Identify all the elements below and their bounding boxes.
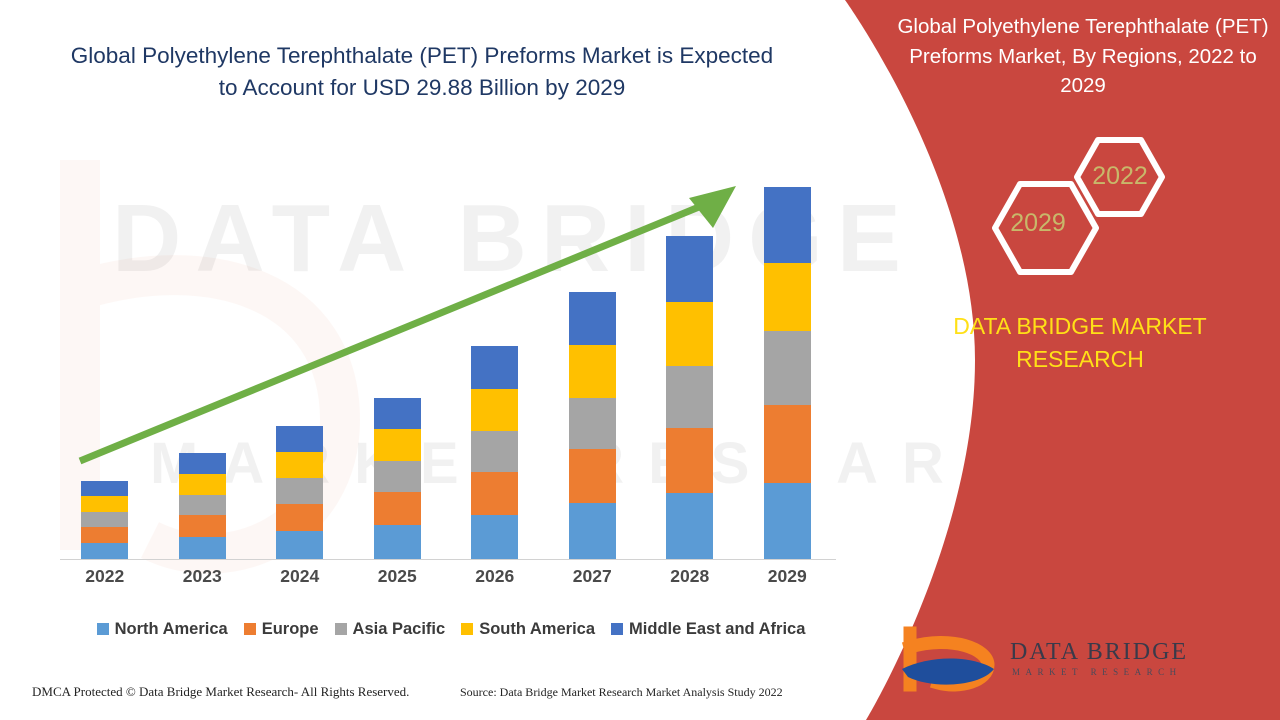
bar-segment[interactable] [666, 236, 713, 302]
legend-label: Asia Pacific [353, 620, 446, 639]
legend-swatch-icon [335, 623, 347, 635]
bar-segment[interactable] [374, 398, 421, 429]
bar-segment[interactable] [374, 429, 421, 461]
bar-segment[interactable] [569, 503, 616, 559]
x-tick-2026: 2026 [455, 566, 535, 587]
bar-segment[interactable] [81, 543, 128, 559]
bar-segment[interactable] [276, 426, 323, 452]
bar-segment[interactable] [179, 515, 226, 537]
footer-source: Source: Data Bridge Market Research Mark… [460, 685, 783, 700]
x-axis-tick-labels: 20222023202420252026202720282029 [56, 566, 836, 596]
bar-segment[interactable] [666, 366, 713, 428]
bar-2025[interactable] [374, 398, 421, 559]
bar-segment[interactable] [374, 492, 421, 525]
bar-segment[interactable] [81, 512, 128, 527]
bar-segment[interactable] [569, 345, 616, 398]
bar-segment[interactable] [179, 474, 226, 495]
bar-segment[interactable] [764, 187, 811, 263]
bar-segment[interactable] [179, 495, 226, 515]
bar-segment[interactable] [374, 525, 421, 559]
bar-2023[interactable] [179, 453, 226, 559]
logo-primary-text: DATA BRIDGE [1010, 639, 1188, 666]
bar-segment[interactable] [374, 461, 421, 492]
x-axis-line [60, 559, 836, 560]
hexagon-label-2029: 2029 [1002, 209, 1074, 238]
bar-segment[interactable] [276, 478, 323, 504]
chart-legend: North AmericaEuropeAsia PacificSouth Ame… [56, 615, 846, 643]
legend-swatch-icon [461, 623, 473, 635]
legend-item[interactable]: North America [97, 620, 228, 639]
x-tick-2024: 2024 [260, 566, 340, 587]
bar-segment[interactable] [471, 431, 518, 472]
bar-segment[interactable] [276, 531, 323, 559]
right-panel: Global Polyethylene Terephthalate (PET) … [880, 0, 1280, 720]
bar-segment[interactable] [471, 515, 518, 559]
bar-segment[interactable] [666, 302, 713, 366]
brand-name: DATA BRIDGE MARKET RESEARCH [890, 310, 1270, 375]
bar-segment[interactable] [666, 493, 713, 559]
x-tick-2025: 2025 [357, 566, 437, 587]
legend-swatch-icon [97, 623, 109, 635]
bar-segment[interactable] [81, 527, 128, 543]
bar-segment[interactable] [81, 496, 128, 512]
bar-segment[interactable] [764, 263, 811, 331]
bar-segment[interactable] [764, 405, 811, 483]
bar-2028[interactable] [666, 236, 713, 559]
x-tick-2027: 2027 [552, 566, 632, 587]
legend-item[interactable]: Europe [244, 620, 319, 639]
bar-2027[interactable] [569, 292, 616, 559]
legend-item[interactable]: Asia Pacific [335, 620, 446, 639]
legend-label: Europe [262, 620, 319, 639]
bar-2024[interactable] [276, 426, 323, 559]
bar-segment[interactable] [569, 398, 616, 449]
stacked-bar-chart [56, 120, 836, 560]
bar-segment[interactable] [471, 346, 518, 389]
legend-swatch-icon [244, 623, 256, 635]
data-bridge-logo: DATA BRIDGE MARKET RESEARCH [890, 625, 1120, 695]
bar-2022[interactable] [81, 481, 128, 559]
plot-area [56, 120, 836, 560]
infographic-canvas: DATA BRIDGE MARKET RESEARCH Global Polye… [0, 0, 1280, 720]
hexagon-group: 2029 2022 [980, 128, 1180, 278]
bar-segment[interactable] [569, 292, 616, 345]
legend-label: Middle East and Africa [629, 620, 805, 639]
legend-item[interactable]: Middle East and Africa [611, 620, 805, 639]
legend-swatch-icon [611, 623, 623, 635]
bar-segment[interactable] [764, 483, 811, 559]
bar-segment[interactable] [81, 481, 128, 496]
logo-secondary-text: MARKET RESEARCH [1012, 667, 1182, 677]
footer: DMCA Protected © Data Bridge Market Rese… [0, 684, 860, 706]
hexagon-label-2022: 2022 [1084, 162, 1156, 191]
panel-title: Global Polyethylene Terephthalate (PET) … [888, 12, 1278, 101]
footer-copyright: DMCA Protected © Data Bridge Market Rese… [32, 684, 409, 700]
bar-segment[interactable] [179, 537, 226, 559]
bar-segment[interactable] [666, 428, 713, 493]
bar-segment[interactable] [276, 452, 323, 478]
legend-label: North America [115, 620, 228, 639]
bar-segment[interactable] [276, 504, 323, 531]
bar-segment[interactable] [569, 449, 616, 503]
x-tick-2022: 2022 [65, 566, 145, 587]
x-tick-2023: 2023 [162, 566, 242, 587]
hexagon-outlines-icon [980, 128, 1180, 278]
bar-segment[interactable] [471, 389, 518, 431]
x-tick-2028: 2028 [650, 566, 730, 587]
legend-label: South America [479, 620, 595, 639]
bar-2026[interactable] [471, 346, 518, 559]
page-title: Global Polyethylene Terephthalate (PET) … [62, 40, 782, 104]
x-tick-2029: 2029 [747, 566, 827, 587]
legend-item[interactable]: South America [461, 620, 595, 639]
bar-segment[interactable] [179, 453, 226, 474]
bar-segment[interactable] [471, 472, 518, 515]
bar-2029[interactable] [764, 187, 811, 559]
bar-segment[interactable] [764, 331, 811, 405]
